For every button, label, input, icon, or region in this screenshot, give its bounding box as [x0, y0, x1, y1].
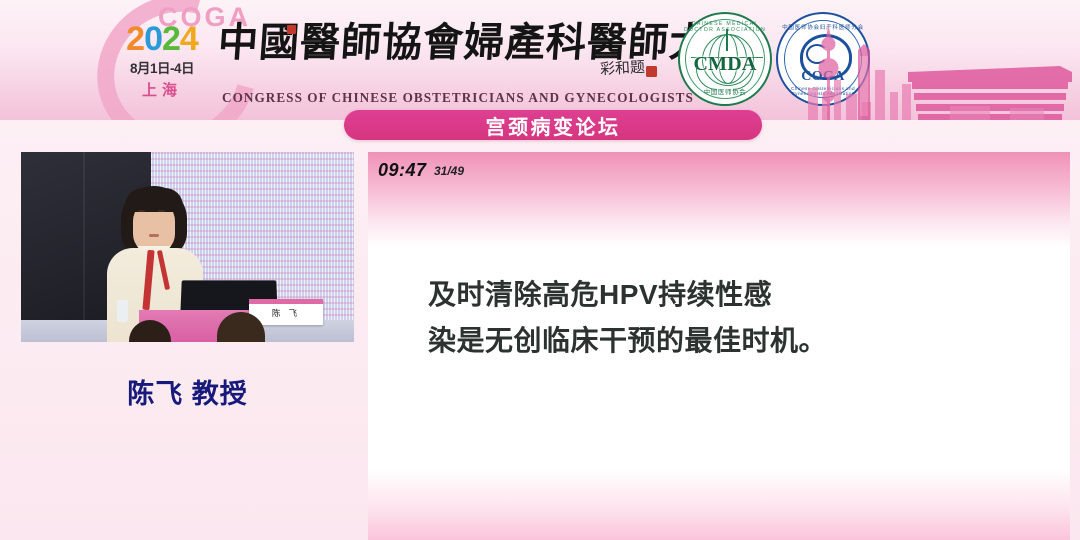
- event-dates: 8月1日-4日: [118, 57, 206, 77]
- name-card-text: 陈 飞: [249, 304, 323, 323]
- speaker-video-feed[interactable]: 陈 飞: [21, 152, 354, 342]
- slide-timestamp: 09:47: [378, 160, 427, 181]
- presentation-slide[interactable]: 09:47 31/49 及时清除高危HPV持续性感 染是无创临床干预的最佳时机。: [368, 152, 1070, 540]
- red-seal-small-icon: [287, 25, 296, 34]
- forum-title-banner: 宫颈病变论坛: [344, 110, 762, 140]
- shanghai-skyline-icon: [800, 10, 1080, 120]
- congress-title-cn: 中國醫師協會婦產科醫師大會: [216, 20, 752, 66]
- asclepius-rod-icon: [726, 29, 728, 51]
- cmda-cn-text: 中国医师协会: [680, 86, 770, 96]
- event-header-banner: COGA 2024 8月1日-4日 上海 中國醫師協會婦產科醫師大會 彩和题 C…: [0, 0, 1080, 120]
- water-bottle: [117, 300, 128, 322]
- congress-title-en: CONGRESS OF CHINESE OBSTETRICIANS AND GY…: [222, 90, 694, 106]
- cmda-arc-text: CHINESE MEDICAL DOCTOR ASSOCIATION: [680, 21, 770, 33]
- slide-page-counter: 31/49: [434, 164, 464, 178]
- event-year: 2024: [118, 22, 206, 56]
- presentation-page: COGA 2024 8月1日-4日 上海 中國醫師協會婦產科醫師大會 彩和题 C…: [0, 0, 1080, 540]
- red-seal-icon: [646, 66, 657, 77]
- event-date-block: 2024 8月1日-4日 上海: [118, 22, 206, 100]
- slide-body-text: 及时清除高危HPV持续性感 染是无创临床干预的最佳时机。: [368, 272, 1070, 364]
- slide-line-2: 染是无创临床干预的最佳时机。: [428, 318, 1010, 364]
- slide-bottom-gradient: [368, 470, 1070, 540]
- cmda-abbr: CMDA: [680, 53, 770, 76]
- event-city: 上海: [118, 79, 206, 100]
- slide-top-gradient: [368, 152, 1070, 247]
- speaker-fringe: [125, 188, 183, 212]
- forum-title-text: 宫颈病变论坛: [486, 111, 621, 140]
- slide-line-1: 及时清除高危HPV持续性感: [428, 272, 1010, 318]
- congress-title-suffix: 彩和题: [599, 56, 645, 79]
- cmda-logo: CHINESE MEDICAL DOCTOR ASSOCIATION CMDA …: [678, 12, 772, 106]
- speaker-mouth: [149, 234, 159, 237]
- speaker-name-label: 陈飞 教授: [21, 372, 354, 411]
